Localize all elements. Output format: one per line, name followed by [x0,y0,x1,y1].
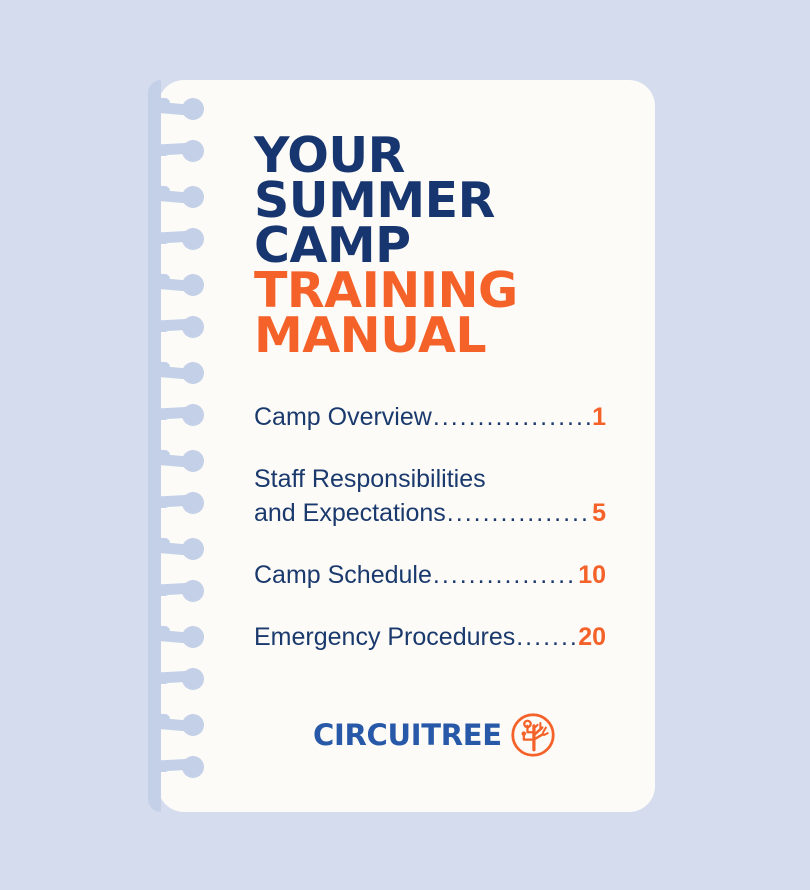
toc-entry-camp-overview[interactable]: Camp Overview ..........................… [254,400,606,434]
toc-entry-camp-schedule[interactable]: Camp Schedule ..........................… [254,558,606,592]
toc-page-number: 5 [592,496,606,530]
toc-leader-dots: ........................ [516,620,577,654]
toc-label: Camp Schedule [254,558,432,592]
toc-page-number: 1 [592,400,606,434]
toc-entry-emergency-procedures[interactable]: Emergency Procedures ...................… [254,620,606,654]
toc-row: Camp Overview ..........................… [254,400,606,434]
toc-label: Emergency Procedures [254,620,515,654]
toc-leader-dots: ........................................… [433,558,577,592]
toc-row: and Expectations .......................… [254,496,606,530]
toc-leader-dots: ........................................… [433,400,591,434]
cover-page-stage: YOUR SUMMER CAMP TRAINING MANUAL Camp Ov… [0,0,810,890]
circuit-tree-icon [510,712,556,758]
toc-label: Camp Overview [254,400,432,434]
toc-page-number: 10 [578,558,606,592]
title-line-5: MANUAL [254,313,594,358]
toc-label-line-1: Staff Responsibilities [254,462,606,496]
toc-page-number: 20 [578,620,606,654]
toc-leader-dots: ........................................… [447,496,591,530]
table-of-contents: Camp Overview ..........................… [254,400,606,682]
toc-row: Camp Schedule ..........................… [254,558,606,592]
binding-spine [148,80,161,812]
toc-row: Emergency Procedures ...................… [254,620,606,654]
logo-wordmark: CIRCUITREE [313,721,502,750]
cover-title: YOUR SUMMER CAMP TRAINING MANUAL [254,133,594,358]
toc-entry-staff-responsibilities[interactable]: Staff Responsibilities and Expectations … [254,462,606,530]
circuitree-logo: CIRCUITREE [313,712,556,758]
toc-label: and Expectations [254,496,446,530]
